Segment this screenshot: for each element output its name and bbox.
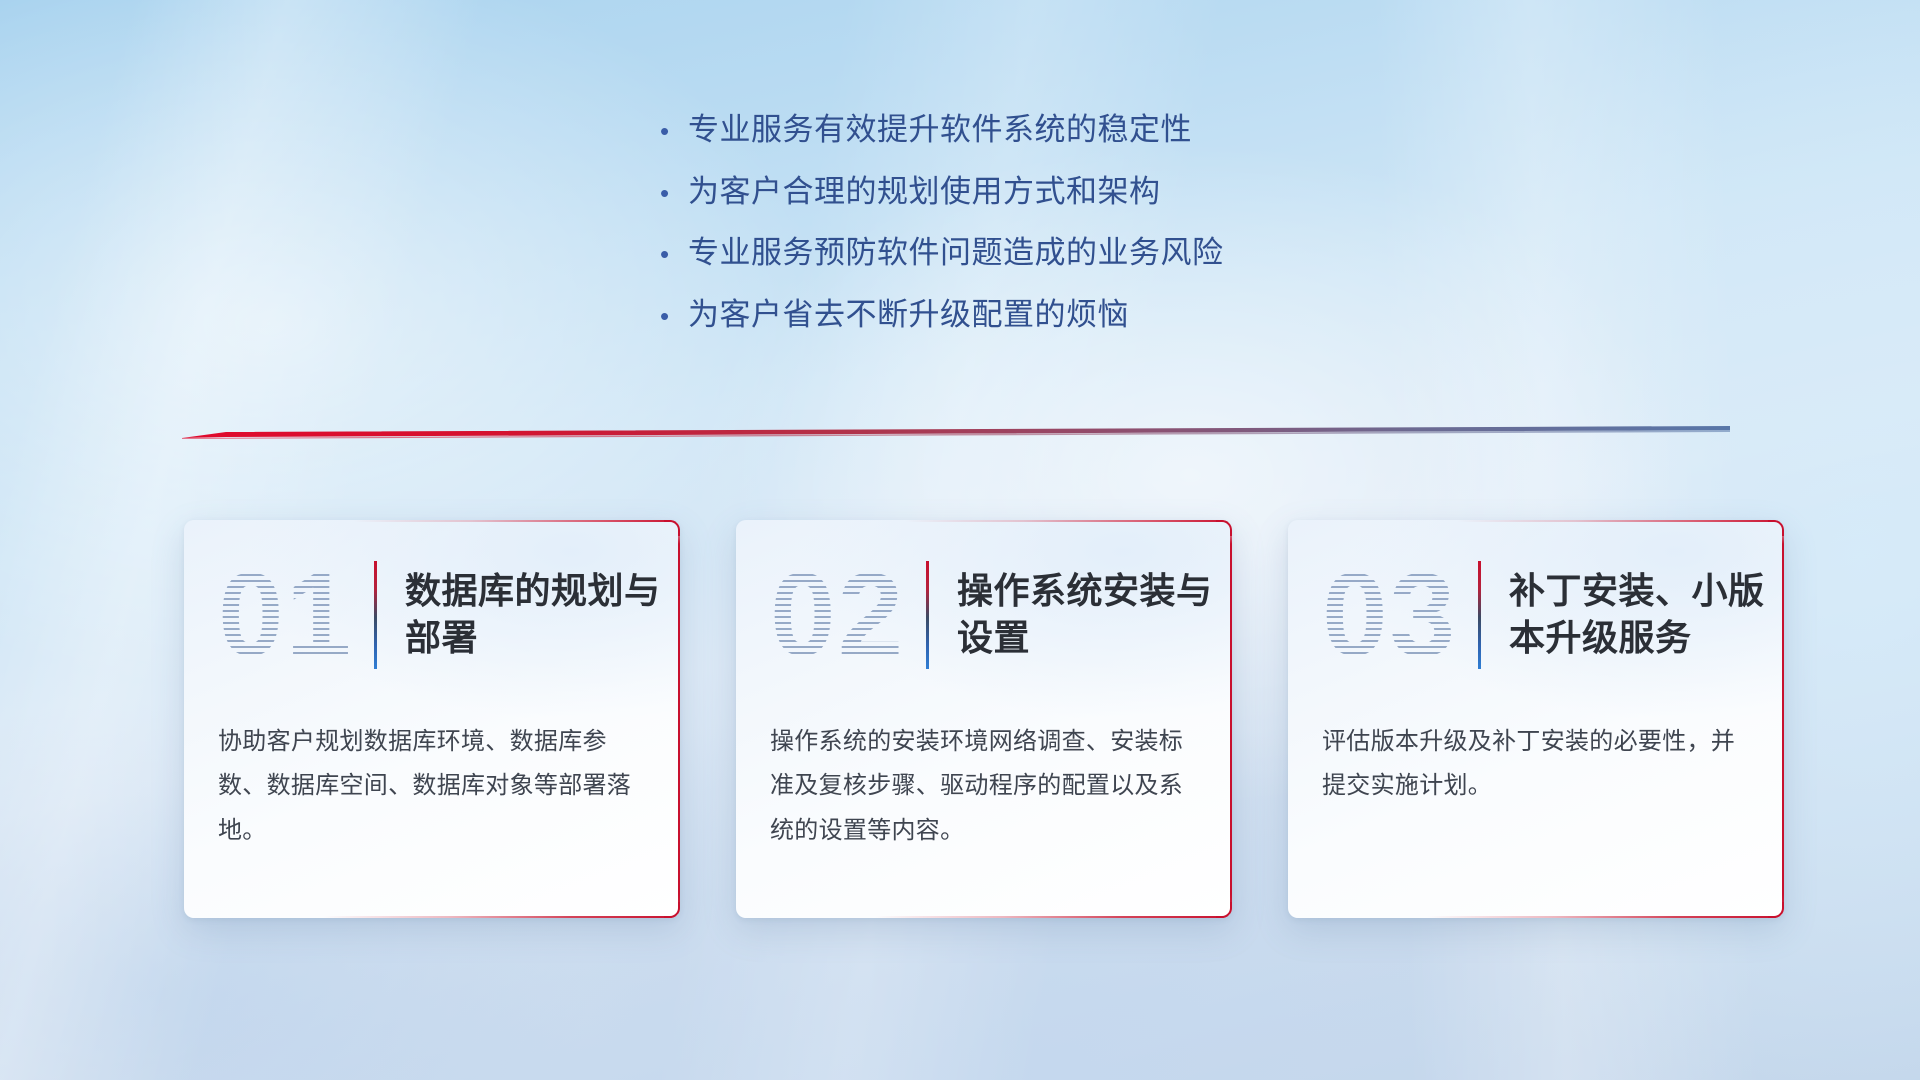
card-body-text: 操作系统的安装环境网络调查、安装标准及复核步骤、驱动程序的配置以及系统的设置等内… (736, 720, 1232, 853)
section-divider (182, 426, 1730, 448)
card-title-rule (374, 561, 377, 669)
bullet-dot-icon: • (660, 241, 688, 267)
list-item: • 专业服务预防软件问题造成的业务风险 (660, 233, 1480, 273)
bullet-text: 专业服务有效提升软件系统的稳定性 (688, 110, 1192, 150)
card-number-watermark: 02 (770, 556, 920, 674)
card-number-watermark: 03 (1322, 556, 1472, 674)
bullet-dot-icon: • (660, 118, 688, 144)
service-card[interactable]: 03 补丁安装、小版本升级服务 评估版本升级及补丁安装的必要性，并提交实施计划。 (1288, 520, 1784, 918)
card-number-watermark: 01 (218, 556, 368, 674)
service-card-group: 01 数据库的规划与部署 协助客户规划数据库环境、数据库参数、数据库空间、数据库… (184, 520, 1784, 918)
slide-root: • 专业服务有效提升软件系统的稳定性 • 为客户合理的规划使用方式和架构 • 专… (0, 0, 1920, 1080)
bullet-dot-icon: • (660, 303, 688, 329)
bullet-text: 为客户省去不断升级配置的烦恼 (688, 295, 1129, 335)
list-item: • 为客户合理的规划使用方式和架构 (660, 172, 1480, 212)
card-body-text: 协助客户规划数据库环境、数据库参数、数据库空间、数据库对象等部署落地。 (184, 720, 680, 853)
service-card[interactable]: 02 操作系统安装与设置 操作系统的安装环境网络调查、安装标准及复核步骤、驱动程… (736, 520, 1232, 918)
bullet-text: 为客户合理的规划使用方式和架构 (688, 172, 1161, 212)
card-title: 数据库的规划与部署 (405, 568, 680, 662)
benefits-bullet-list: • 专业服务有效提升软件系统的稳定性 • 为客户合理的规划使用方式和架构 • 专… (660, 110, 1480, 357)
card-header: 01 数据库的规划与部署 (184, 520, 680, 710)
card-header: 02 操作系统安装与设置 (736, 520, 1232, 710)
bullet-dot-icon: • (660, 180, 688, 206)
card-title-rule (1478, 561, 1481, 669)
card-header: 03 补丁安装、小版本升级服务 (1288, 520, 1784, 710)
card-title: 补丁安装、小版本升级服务 (1509, 568, 1784, 662)
list-item: • 专业服务有效提升软件系统的稳定性 (660, 110, 1480, 150)
service-card[interactable]: 01 数据库的规划与部署 协助客户规划数据库环境、数据库参数、数据库空间、数据库… (184, 520, 680, 918)
card-title: 操作系统安装与设置 (957, 568, 1232, 662)
card-body-text: 评估版本升级及补丁安装的必要性，并提交实施计划。 (1288, 720, 1784, 809)
list-item: • 为客户省去不断升级配置的烦恼 (660, 295, 1480, 335)
bullet-text: 专业服务预防软件问题造成的业务风险 (688, 233, 1224, 273)
card-title-rule (926, 561, 929, 669)
